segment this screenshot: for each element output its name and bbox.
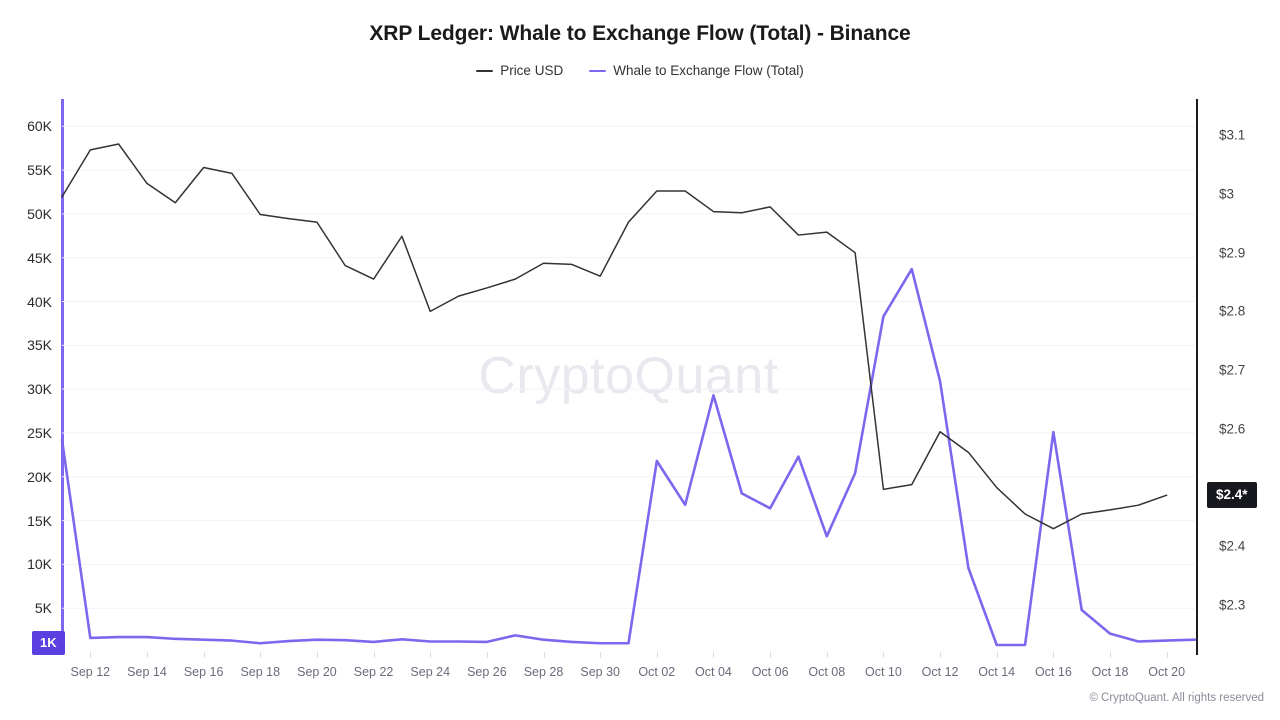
x-axis-tick-mark (1167, 652, 1168, 658)
x-axis-tick-mark (204, 652, 205, 658)
x-axis-tick: Oct 18 (1092, 665, 1129, 679)
x-axis-tick: Sep 14 (127, 665, 167, 679)
left-axis-tick: 25K (27, 425, 52, 441)
copyright-notice: © CryptoQuant. All rights reserved (1089, 692, 1264, 704)
x-axis-tick: Oct 16 (1035, 665, 1072, 679)
x-axis-tick: Oct 02 (638, 665, 675, 679)
legend-item-price[interactable]: Price USD (476, 63, 563, 78)
legend-label-price: Price USD (500, 63, 563, 78)
left-axis-tick: 20K (27, 469, 52, 485)
x-axis-tick-mark (1110, 652, 1111, 658)
x-axis-tick-mark (997, 652, 998, 658)
x-axis-tick: Sep 28 (524, 665, 564, 679)
left-axis-tick: 10K (27, 556, 52, 572)
legend-label-flow: Whale to Exchange Flow (Total) (613, 63, 804, 78)
x-axis-tick-mark (883, 652, 884, 658)
x-axis-tick: Sep 16 (184, 665, 224, 679)
left-axis-value-badge: 1K (32, 631, 65, 655)
right-axis-tick: $2.6 (1219, 421, 1245, 436)
x-axis-tick-mark (430, 652, 431, 658)
series-layer (62, 100, 1195, 652)
plot-area: CryptoQuant (62, 100, 1195, 652)
left-axis-tick: 5K (35, 600, 52, 616)
legend-item-flow[interactable]: Whale to Exchange Flow (Total) (589, 63, 804, 78)
series-line-price (62, 144, 1167, 529)
x-axis-tick-mark (374, 652, 375, 658)
left-axis-tick: 30K (27, 381, 52, 397)
x-axis-tick-mark (487, 652, 488, 658)
legend-swatch-flow-icon (589, 70, 606, 72)
x-axis-tick: Oct 06 (752, 665, 789, 679)
x-axis-tick-mark (90, 652, 91, 658)
x-axis-tick: Sep 22 (354, 665, 394, 679)
left-axis-tick: 60K (27, 118, 52, 134)
right-axis-price-badge: $2.4* (1207, 482, 1257, 508)
x-axis-tick-mark (317, 652, 318, 658)
x-axis-tick: Sep 12 (71, 665, 111, 679)
right-axis-tick: $2.7 (1219, 363, 1245, 378)
x-axis-tick: Sep 18 (240, 665, 280, 679)
left-axis-tick: 45K (27, 250, 52, 266)
x-axis-tick: Oct 04 (695, 665, 732, 679)
right-axis-tick: $2.8 (1219, 304, 1245, 319)
x-axis-tick: Oct 14 (978, 665, 1015, 679)
x-axis-tick-mark (147, 652, 148, 658)
chart-title: XRP Ledger: Whale to Exchange Flow (Tota… (0, 22, 1280, 46)
x-axis-tick-mark (827, 652, 828, 658)
right-axis-tick: $2.9 (1219, 245, 1245, 260)
x-axis-tick: Sep 20 (297, 665, 337, 679)
x-axis-tick: Sep 30 (580, 665, 620, 679)
left-axis-tick: 55K (27, 162, 52, 178)
x-axis-tick: Oct 08 (808, 665, 845, 679)
x-axis-tick-mark (600, 652, 601, 658)
x-axis-tick-mark (657, 652, 658, 658)
x-axis-tick-mark (260, 652, 261, 658)
series-line-flow (62, 269, 1195, 645)
right-axis-line (1196, 99, 1198, 655)
x-axis-tick-mark (770, 652, 771, 658)
left-axis-tick: 35K (27, 337, 52, 353)
right-axis-tick: $2.3 (1219, 598, 1245, 613)
right-axis-tick: $3.1 (1219, 128, 1245, 143)
x-axis-tick: Oct 12 (922, 665, 959, 679)
left-axis-tick: 15K (27, 513, 52, 529)
x-axis-tick-mark (1053, 652, 1054, 658)
x-axis-tick-mark (940, 652, 941, 658)
x-axis-tick: Sep 24 (410, 665, 450, 679)
left-axis-tick: 40K (27, 294, 52, 310)
x-axis-tick: Oct 10 (865, 665, 902, 679)
legend-swatch-price-icon (476, 70, 493, 72)
x-axis-tick: Oct 20 (1148, 665, 1185, 679)
right-axis-tick: $3 (1219, 186, 1234, 201)
chart-legend: Price USD Whale to Exchange Flow (Total) (0, 63, 1280, 78)
x-axis-tick-mark (713, 652, 714, 658)
chart-container: XRP Ledger: Whale to Exchange Flow (Tota… (0, 0, 1280, 720)
x-axis-tick: Sep 26 (467, 665, 507, 679)
right-axis-tick: $2.4 (1219, 539, 1245, 554)
x-axis-tick-mark (544, 652, 545, 658)
left-axis-tick: 50K (27, 206, 52, 222)
gridlines (62, 126, 1195, 608)
